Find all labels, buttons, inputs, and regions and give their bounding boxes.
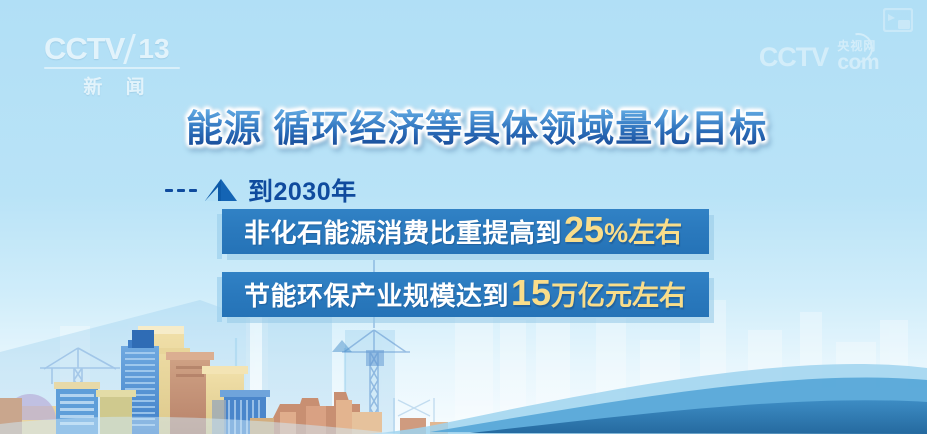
dashed-line-icon (165, 189, 197, 192)
bullet-1-suffix: 左右 (628, 218, 682, 248)
logo-underline (44, 67, 180, 69)
non-fossil-energy-target-banner: 非化石能源消费比重提高到 25%左右 (222, 209, 709, 254)
cctv-com-watermark: CCTV 央视网 com (759, 40, 879, 73)
bullet-1-value: 25 (564, 209, 604, 250)
channel-subtitle: 新 闻 (44, 72, 184, 99)
broadcast-frame: CCTV 13 新 闻 CCTV 央视网 com 能源 循环经济等具体领域量化目… (0, 0, 927, 434)
channel-number: 13 (138, 33, 169, 65)
picture-in-picture-icon[interactable] (883, 8, 913, 32)
watermark-cctv-text: CCTV (759, 42, 829, 73)
triangle-marker-icon (203, 177, 239, 203)
bullet-1-unit: % (604, 218, 628, 248)
bullet-1-highlight: 25%左右 (564, 212, 682, 251)
page-title: 能源 循环经济等具体领域量化目标 (186, 98, 767, 152)
timeframe-row: 到2030年 (165, 172, 357, 208)
energy-saving-industry-target-banner: 节能环保产业规模达到 15万亿元左右 (222, 272, 709, 317)
bullet-2-highlight: 15万亿元左右 (511, 275, 686, 314)
bullet-1-text: 非化石能源消费比重提高到 (244, 213, 562, 250)
cctv-wordmark: CCTV (44, 31, 124, 67)
bullet-2-value: 15 (511, 272, 551, 313)
cctv13-channel-logo: CCTV 13 新 闻 (44, 32, 184, 98)
timeframe-label: 到2030年 (248, 172, 357, 208)
bullet-2-text: 节能环保产业规模达到 (244, 276, 509, 313)
bullet-2-suffix: 左右 (632, 281, 686, 311)
bullet-2-unit: 万亿元 (551, 281, 632, 311)
logo-slash-icon (124, 34, 137, 64)
cctv-logo-row: CCTV 13 (44, 32, 184, 66)
